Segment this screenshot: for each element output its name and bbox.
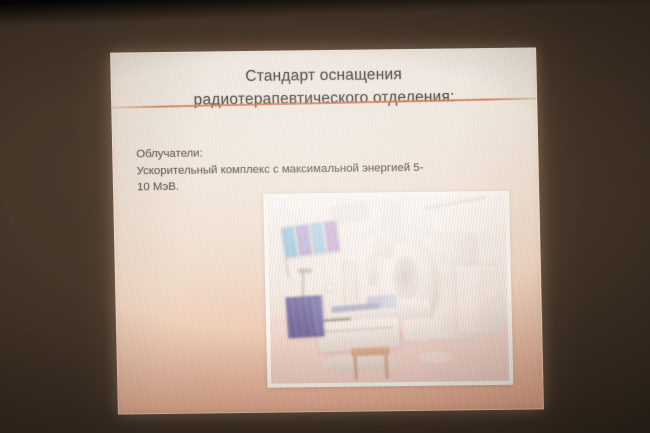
presentation-slide: Стандарт оснащения радиотерапевтического… xyxy=(110,47,544,414)
photo-wall-plate xyxy=(326,282,333,291)
photo-stool-leg-left xyxy=(353,356,358,380)
slide-title-line1: Стандарт оснащения xyxy=(245,66,402,85)
photo-door xyxy=(342,262,357,307)
linac-room-photo xyxy=(267,195,509,384)
photo-side-cabinet-2 xyxy=(478,269,506,331)
slide-body-text: Облучатели: Ускорительный комплекс с мак… xyxy=(136,142,521,196)
photo-step-stool xyxy=(351,346,391,379)
projected-slide-photo: Стандарт оснащения радиотерапевтического… xyxy=(0,0,650,433)
photo-iv-pole-top xyxy=(297,268,311,274)
photo-linac-bore xyxy=(392,255,419,300)
photo-stool-leg-right xyxy=(384,355,389,379)
photo-linac-head xyxy=(372,231,395,259)
photo-couch-accessories xyxy=(367,294,397,309)
slide-photo-frame xyxy=(263,191,513,388)
photo-linac-arm xyxy=(368,252,378,286)
slide-surface: Стандарт оснащения радиотерапевтического… xyxy=(110,47,544,414)
